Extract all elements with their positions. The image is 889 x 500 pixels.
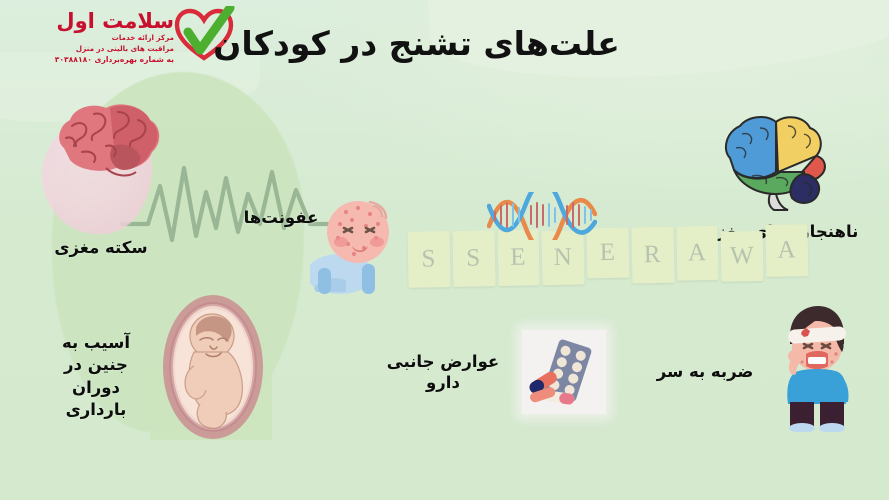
page-title: علت‌های تشنج در کودکان xyxy=(0,24,889,63)
awareness-tile: S xyxy=(407,231,450,288)
colored-brain-icon xyxy=(718,112,834,214)
awareness-tile: A xyxy=(676,226,719,281)
pills-icon xyxy=(522,330,606,414)
brain-in-head-icon xyxy=(40,94,172,236)
label-infections: عفونت‌ها xyxy=(213,208,349,229)
awareness-tile: R xyxy=(631,227,674,284)
awareness-tiles: A W A R E N E S S xyxy=(407,224,808,288)
label-drug-side-effects: عوارض جانبی دارو xyxy=(372,352,514,393)
label-head-trauma: ضربه به سر xyxy=(632,362,778,383)
label-stroke: سکته مغزی xyxy=(36,238,166,259)
injured-boy-icon xyxy=(766,300,862,432)
label-fetal-injury: آسیب به جنین در دوران بارداری xyxy=(36,332,156,421)
fetus-icon xyxy=(160,292,266,442)
awareness-tile: W xyxy=(721,231,764,282)
dna-icon xyxy=(487,192,597,240)
awareness-tile: A xyxy=(766,224,809,277)
infographic-canvas: سلامت اول مرکز ارائه خدمات مراقبت های با… xyxy=(0,0,889,500)
